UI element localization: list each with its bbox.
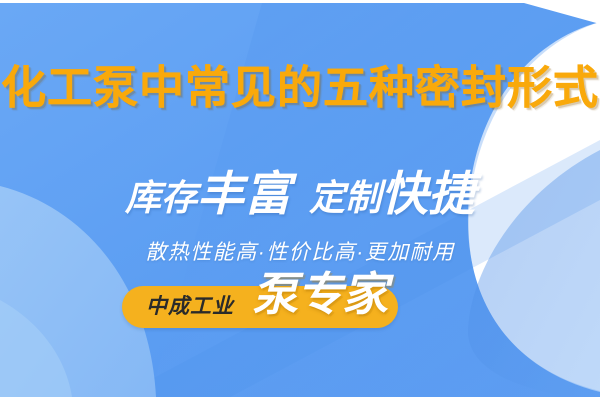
subheadline-part-4: 快捷 bbox=[381, 167, 475, 220]
brand-badge: 中成工业 泵专家 bbox=[122, 286, 402, 330]
subheadline-part-1: 库存 bbox=[125, 177, 197, 218]
brand-expert-label: 泵专家 bbox=[252, 268, 387, 320]
subheadline-part-2: 丰富 bbox=[197, 167, 291, 220]
top-edge-strip bbox=[0, 0, 600, 3]
promo-banner: 化工泵中常见的五种密封形式 库存丰富定制快捷 散热性能高·性价比高·更加耐用 中… bbox=[0, 0, 600, 400]
brand-company-name: 中成工业 bbox=[146, 295, 234, 319]
banner-headline: 化工泵中常见的五种密封形式 bbox=[0, 62, 600, 114]
banner-subheadline: 库存丰富定制快捷 bbox=[0, 155, 600, 224]
banner-content: 化工泵中常见的五种密封形式 库存丰富定制快捷 散热性能高·性价比高·更加耐用 中… bbox=[0, 0, 600, 400]
banner-feature-list: 散热性能高·性价比高·更加耐用 bbox=[0, 236, 600, 266]
subheadline-part-3: 定制 bbox=[309, 177, 381, 218]
